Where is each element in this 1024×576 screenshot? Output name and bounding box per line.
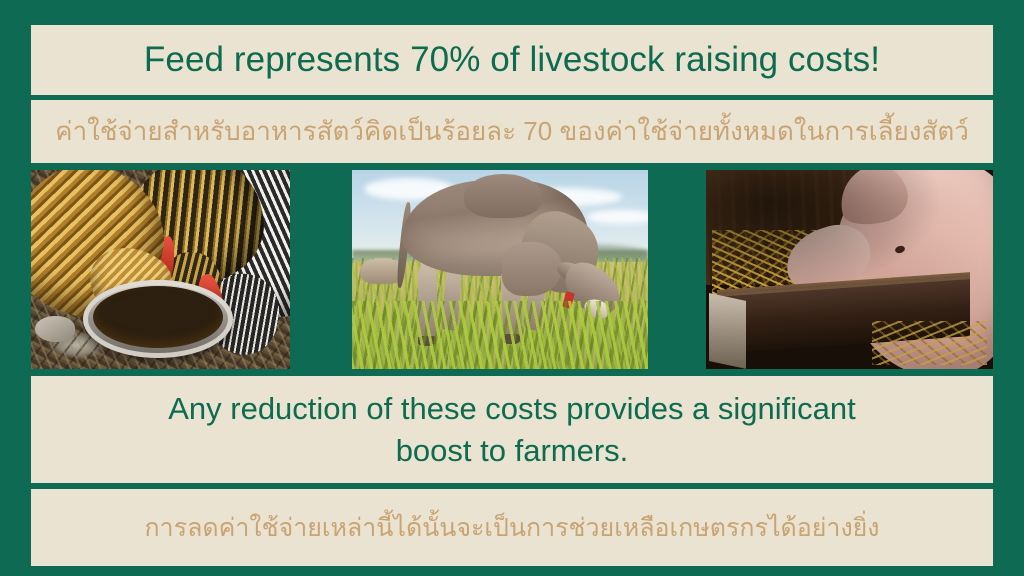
photo-pig-at-trough <box>706 170 993 369</box>
foreground-grass <box>352 301 648 369</box>
headline-text: Feed represents 70% of livestock raising… <box>144 42 880 79</box>
straw-on-floor <box>872 321 987 365</box>
closing-text: Any reduction of these costs provides a … <box>128 388 896 470</box>
closing-line-1: Any reduction of these costs provides a … <box>168 391 856 426</box>
chickens-scene <box>31 170 290 369</box>
closing-line-2: boost to farmers. <box>396 433 629 468</box>
slide-canvas: Feed represents 70% of livestock raising… <box>0 0 1024 576</box>
subtitle-thai-text: ค่าใช้จ่ายสำหรับอาหารสัตว์คิดเป็นร้อยละ … <box>55 117 969 147</box>
subtitle-thai-band: ค่าใช้จ่ายสำหรับอาหารสัตว์คิดเป็นร้อยละ … <box>31 100 993 163</box>
photo-strip <box>0 170 1024 370</box>
cloud-shape <box>587 210 648 224</box>
pig-scene <box>706 170 993 369</box>
cow-scene <box>352 170 648 369</box>
photo-chickens-feeding <box>31 170 290 369</box>
photo-cow-grazing <box>352 170 648 369</box>
closing-band: Any reduction of these costs provides a … <box>31 376 993 483</box>
closing-thai-band: การลดค่าใช้จ่ายเหล่านี้ได้นั้นจะเป็นการช… <box>31 489 993 566</box>
feed-pan-rim <box>83 280 233 358</box>
stone-shape <box>35 316 75 342</box>
closing-thai-text: การลดค่าใช้จ่ายเหล่านี้ได้นั้นจะเป็นการช… <box>144 513 879 543</box>
cow-hump <box>464 174 542 218</box>
headline-band: Feed represents 70% of livestock raising… <box>31 25 993 95</box>
trough-end-board <box>709 293 746 369</box>
